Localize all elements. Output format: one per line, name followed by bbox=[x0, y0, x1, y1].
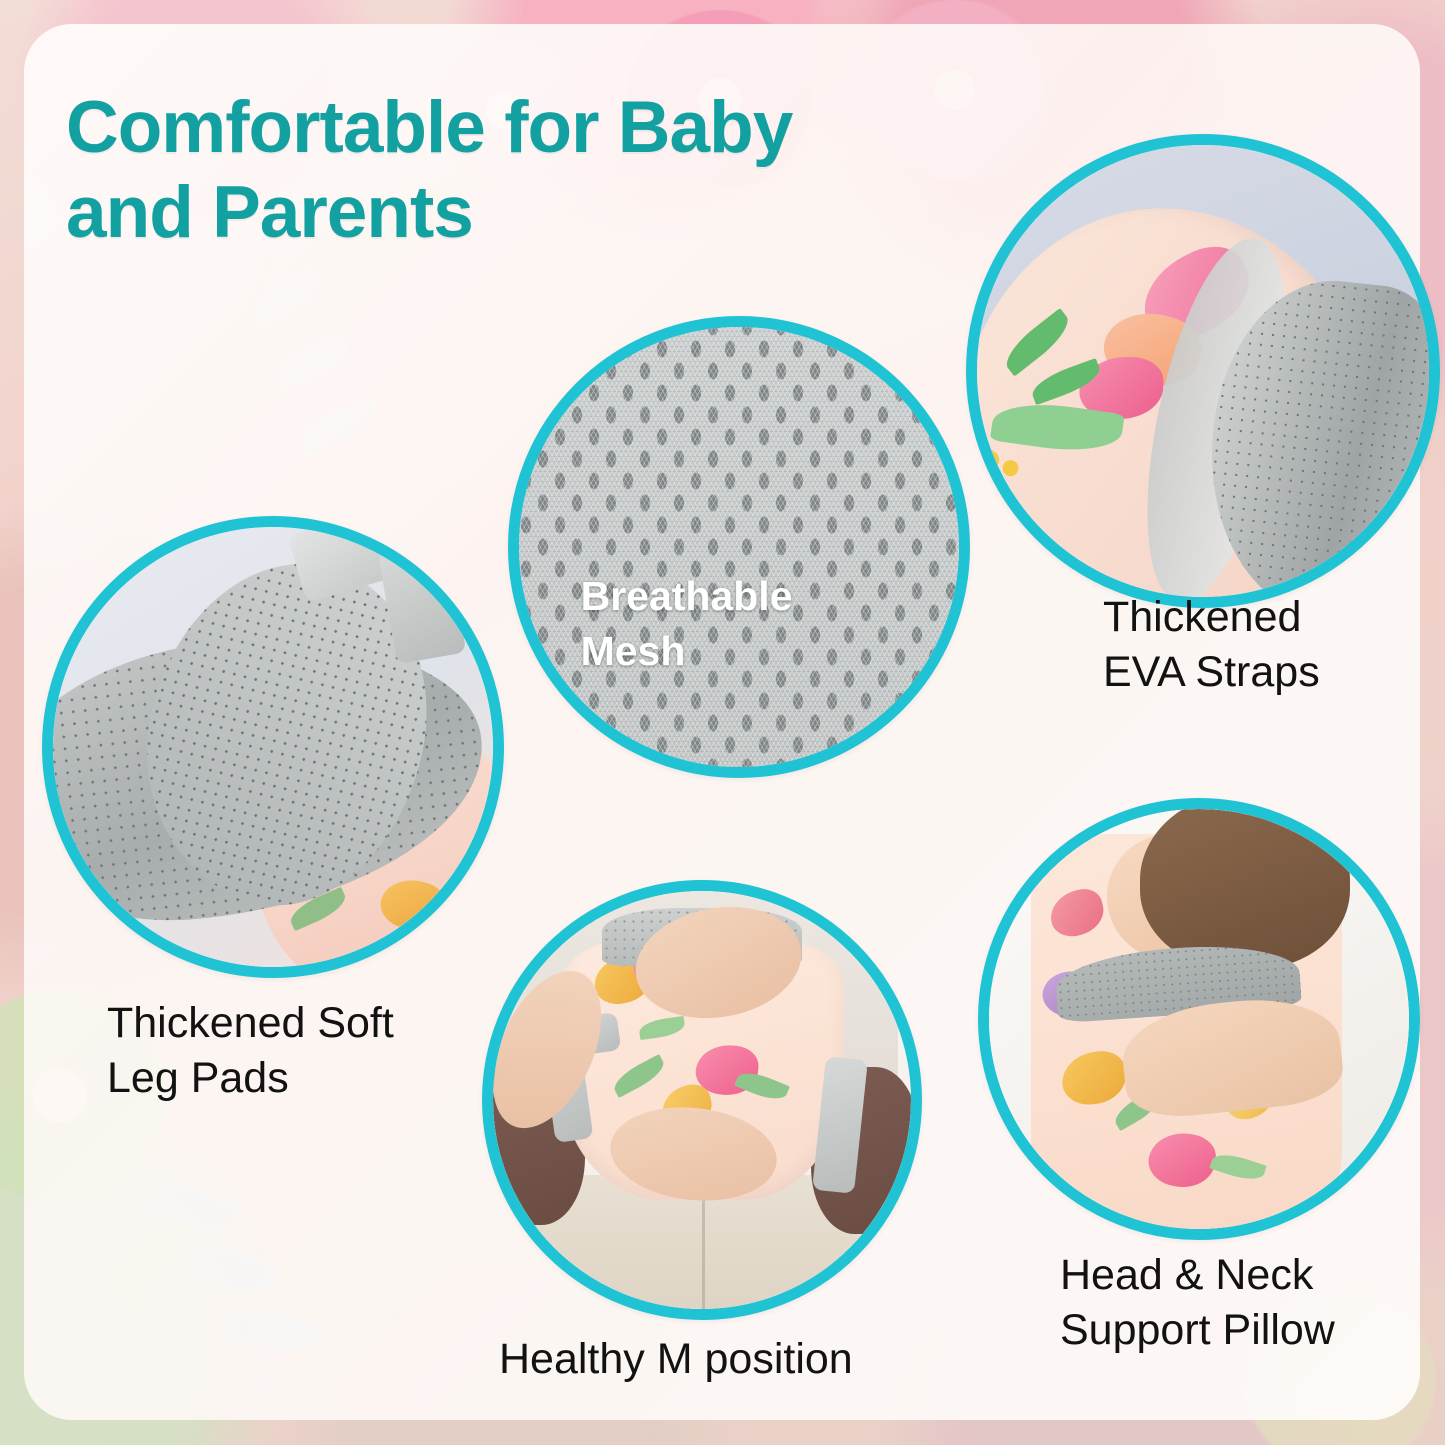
leg-pads-label-line-2: Leg Pads bbox=[107, 1051, 487, 1106]
leg-pads-photo bbox=[53, 527, 493, 967]
head-neck-label-line-1: Head & Neck bbox=[1060, 1248, 1440, 1303]
flower-petal bbox=[1145, 1127, 1219, 1192]
breathable-mesh-label-line-1: Breathable bbox=[581, 569, 793, 624]
feature-photo-head-neck-pillow bbox=[978, 798, 1420, 1240]
breathable-mesh-label-line-2: Mesh bbox=[581, 624, 793, 679]
head-neck-pillow-photo bbox=[989, 809, 1409, 1229]
feature-label-m-position: Healthy M position bbox=[499, 1332, 919, 1387]
blossom-shape bbox=[978, 449, 1001, 472]
feature-photo-m-position bbox=[482, 880, 922, 1320]
eva-straps-label-line-2: EVA Straps bbox=[1103, 645, 1443, 700]
feature-label-leg-pads: Thickened Soft Leg Pads bbox=[107, 996, 487, 1106]
feature-label-head-neck-pillow: Head & Neck Support Pillow bbox=[1060, 1248, 1440, 1358]
feature-photo-breathable-mesh: Breathable Mesh bbox=[508, 316, 970, 778]
flower-petal bbox=[1060, 1049, 1129, 1107]
head-neck-label-line-2: Support Pillow bbox=[1060, 1303, 1440, 1358]
page-title: Comfortable for Baby and Parents bbox=[66, 86, 1026, 255]
flower-petal bbox=[375, 872, 450, 938]
feature-photo-eva-straps bbox=[966, 134, 1440, 608]
leaf-shape bbox=[1209, 1149, 1267, 1185]
breathable-mesh-photo: Breathable Mesh bbox=[519, 327, 959, 767]
blossom-shape bbox=[977, 478, 982, 496]
breathable-mesh-label: Breathable Mesh bbox=[581, 569, 793, 680]
flower-petal bbox=[1045, 884, 1109, 941]
leg-pads-label-line-1: Thickened Soft bbox=[107, 996, 487, 1051]
eva-straps-photo bbox=[977, 145, 1429, 597]
mesh-weave-overlay bbox=[519, 327, 959, 767]
blossom-shape bbox=[1001, 459, 1019, 477]
m-position-photo bbox=[493, 891, 911, 1309]
page-title-line-2: and Parents bbox=[66, 171, 1026, 256]
eva-straps-label-line-1: Thickened bbox=[1103, 590, 1443, 645]
leaf-shape bbox=[638, 1016, 686, 1040]
baby-head bbox=[1140, 809, 1350, 969]
feature-label-eva-straps: Thickened EVA Straps bbox=[1103, 590, 1443, 700]
leaf-shape bbox=[610, 1054, 669, 1098]
infographic-canvas: Comfortable for Baby and Parents Breatha… bbox=[0, 0, 1445, 1445]
m-position-label-line-1: Healthy M position bbox=[499, 1332, 919, 1387]
feature-photo-leg-pads bbox=[42, 516, 504, 978]
leaf-shape bbox=[998, 308, 1075, 377]
page-title-line-1: Comfortable for Baby bbox=[66, 86, 1026, 171]
